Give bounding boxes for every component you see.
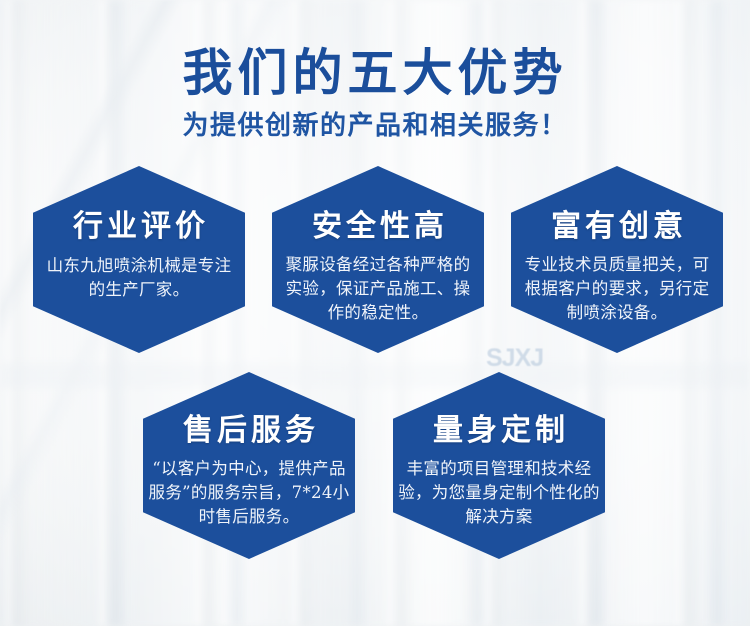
- advantage-title-1: 行业评价: [69, 210, 209, 244]
- advantage-title-2: 安全性高: [308, 210, 448, 244]
- advantage-title-4: 售后服务: [179, 414, 319, 448]
- advantage-card-2[interactable]: 安全性高 聚脲设备经过各种严格的实验，保证产品施工、操作的稳定性。: [272, 166, 484, 353]
- advantages-banner: SJXJ 我们的五大优势 为提供创新的产品和相关服务！ 行业评价 山东九旭喷涂机…: [0, 0, 750, 626]
- advantage-card-5[interactable]: 量身定制 丰富的项目管理和技术经验，为您量身定制个性化的解决方案: [393, 372, 605, 559]
- page-subtitle: 为提供创新的产品和相关服务！: [0, 110, 750, 142]
- advantage-description-3: 专业技术员质量把关，可根据客户的要求，另行定制喷涂设备。: [517, 253, 717, 325]
- advantage-title-3: 富有创意: [547, 210, 687, 244]
- advantage-description-5: 丰富的项目管理和技术经验，为您量身定制个性化的解决方案: [398, 457, 600, 529]
- advantage-description-2: 聚脲设备经过各种严格的实验，保证产品施工、操作的稳定性。: [279, 253, 477, 325]
- advantage-card-1[interactable]: 行业评价 山东九旭喷涂机械是专注的生产厂家。: [33, 166, 245, 353]
- advantage-card-3[interactable]: 富有创意 专业技术员质量把关，可根据客户的要求，另行定制喷涂设备。: [511, 166, 723, 353]
- advantage-description-1: 山东九旭喷涂机械是专注的生产厂家。: [41, 254, 237, 302]
- advantage-card-4[interactable]: 售后服务 “以客户为中心，提供产品服务”的服务宗旨，7*24小时售后服务。: [143, 372, 355, 559]
- advantage-title-5: 量身定制: [429, 414, 569, 448]
- advantage-description-4: “以客户为中心，提供产品服务”的服务宗旨，7*24小时售后服务。: [147, 457, 351, 529]
- page-title: 我们的五大优势: [0, 44, 750, 102]
